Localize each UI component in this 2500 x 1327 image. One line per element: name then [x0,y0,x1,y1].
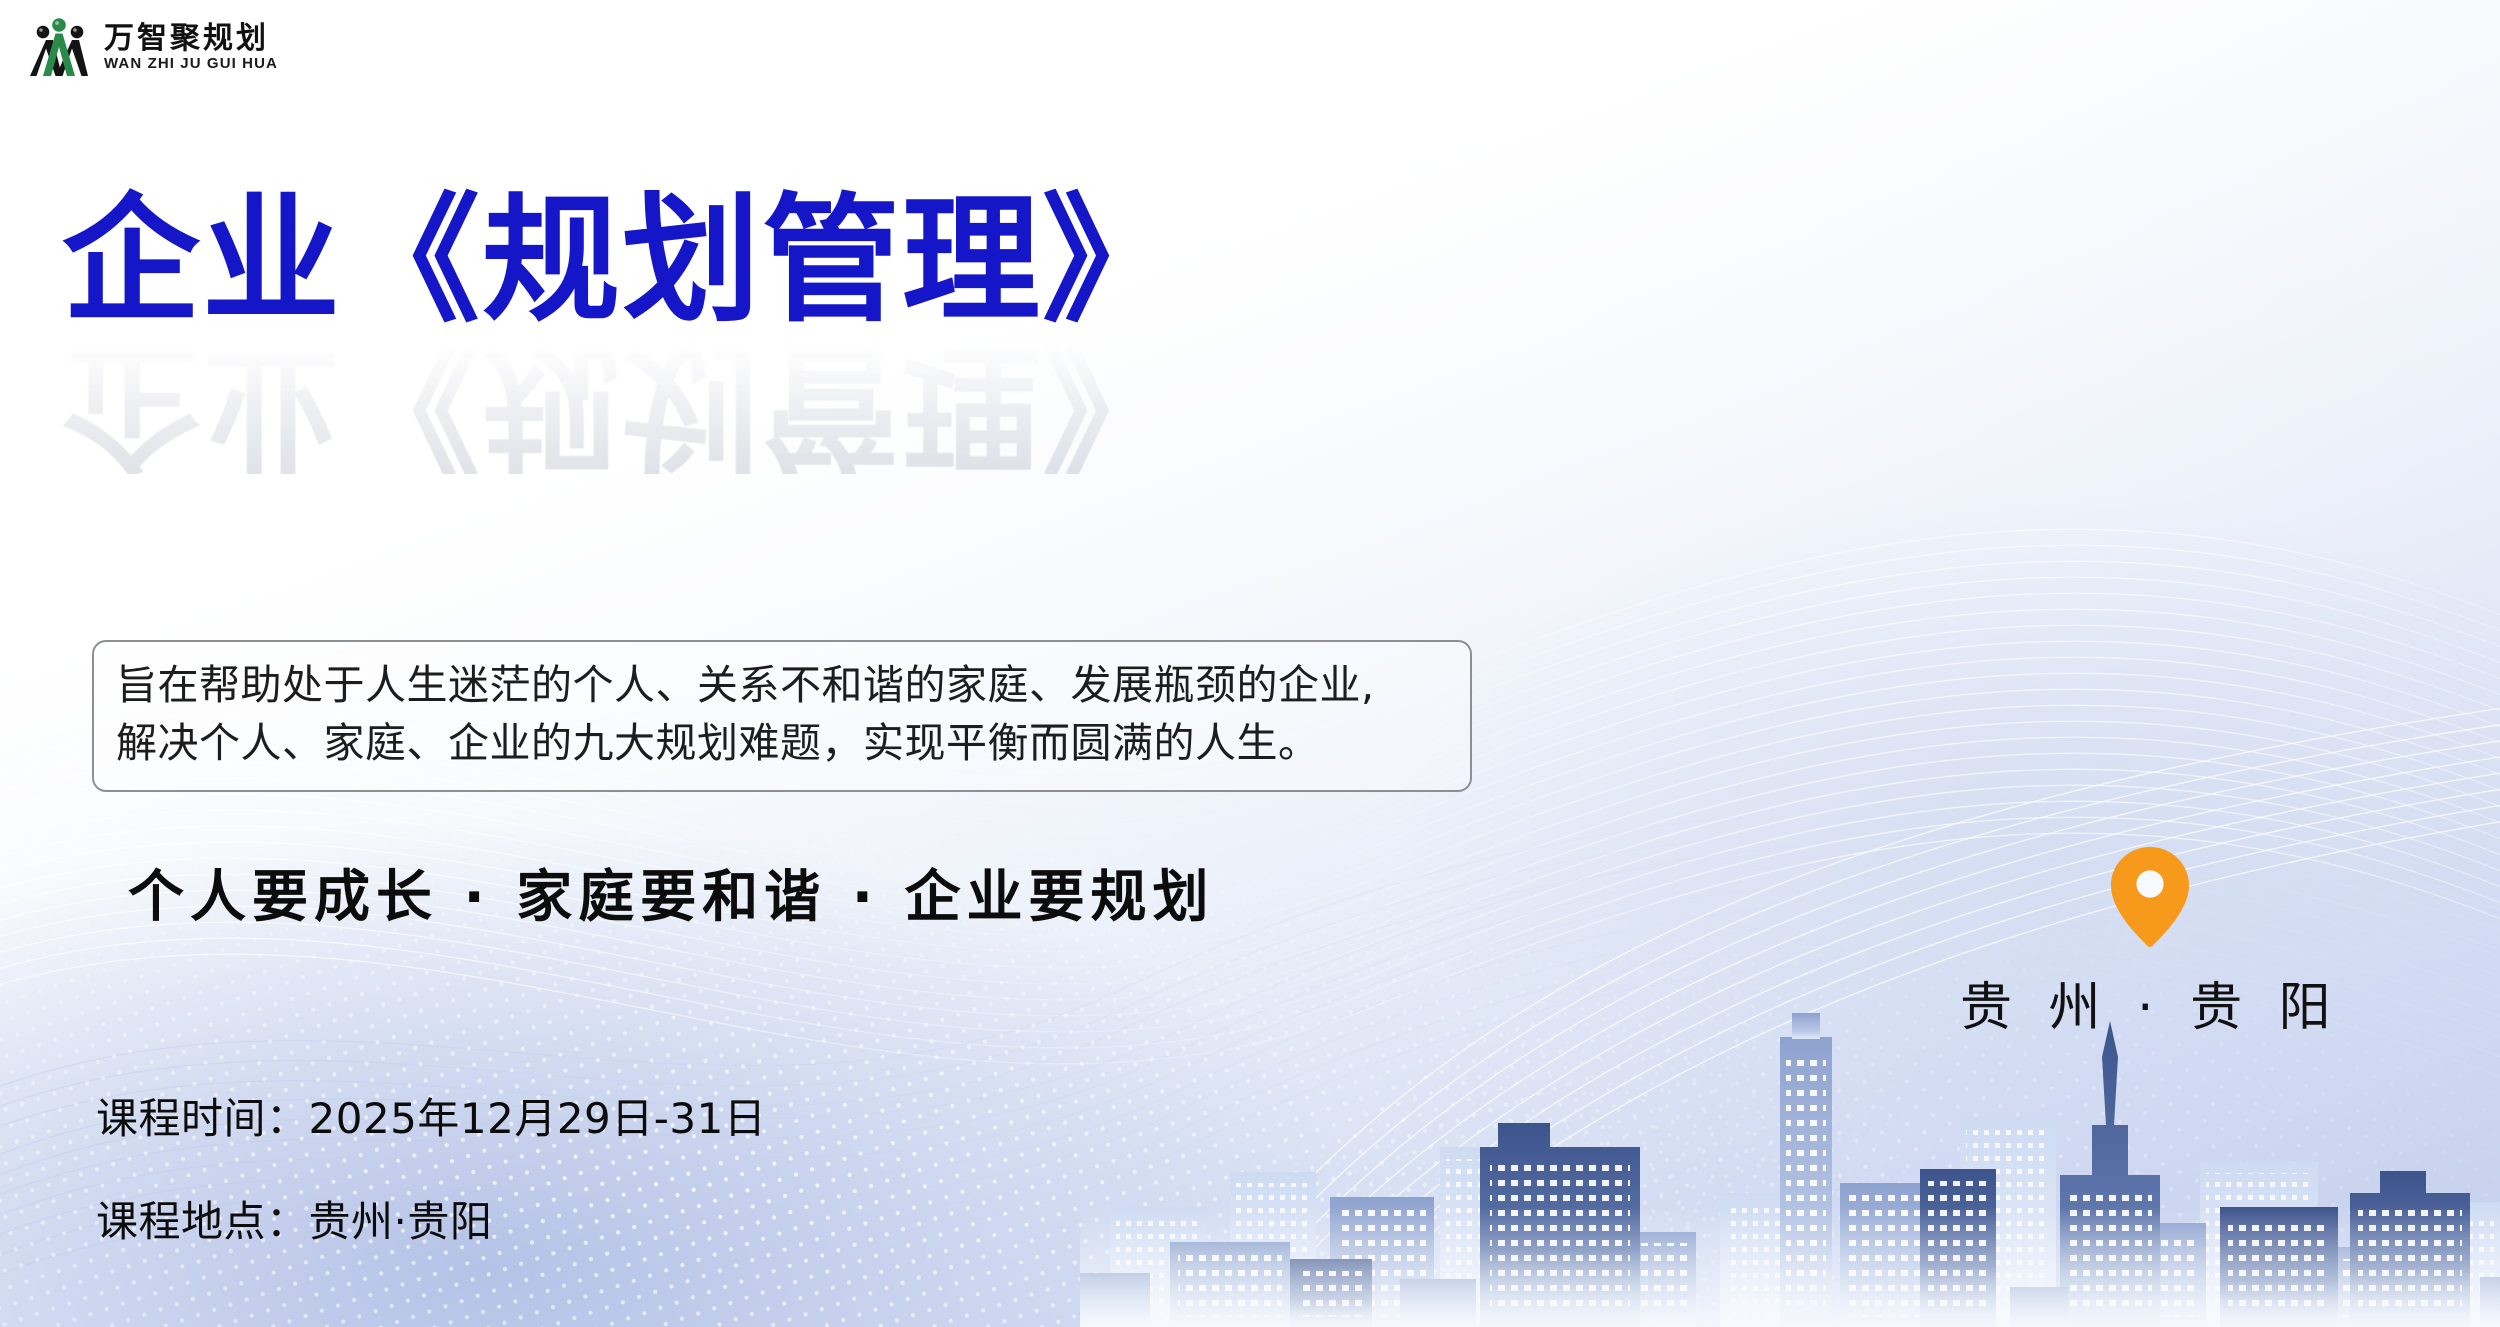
description-line-1: 旨在帮助处于人生迷茫的个人、关系不和谐的家庭、发展瓶颈的企业, [116,656,1448,714]
brand-logo[interactable]: 万智聚规划 WAN ZHI JU GUI HUA [28,14,278,80]
location-badge-text: 贵 州 · 贵 阳 [1960,965,2341,1040]
course-place: 课程地点：贵州·贵阳 [96,1188,766,1249]
poster-canvas: 万智聚规划 WAN ZHI JU GUI HUA 企业《规划管理》 企业《规划管… [0,0,2500,1327]
description-box: 旨在帮助处于人生迷茫的个人、关系不和谐的家庭、发展瓶颈的企业, 解决个人、家庭、… [92,640,1472,792]
hero-title-block: 企业《规划管理》 企业《规划管理》 [62,192,1182,474]
brand-name-cn: 万智聚规划 [104,24,278,54]
course-time: 课程时间：2025年12月29日-31日 [96,1085,766,1146]
brand-wordmark: 万智聚规划 WAN ZHI JU GUI HUA [104,24,278,71]
city-bottom-fade [1080,1207,2500,1327]
course-info-block: 课程时间：2025年12月29日-31日 课程地点：贵州·贵阳 [96,1085,766,1249]
brand-name-en: WAN ZHI JU GUI HUA [104,56,278,71]
map-pin-icon [2109,845,2191,949]
location-badge: 贵 州 · 贵 阳 [1960,845,2341,1040]
page-title: 企业《规划管理》 [62,192,1182,330]
description-line-2: 解决个人、家庭、企业的九大规划难题，实现平衡而圆满的人生。 [116,714,1448,772]
three-people-mark-icon [28,14,90,80]
slogan-text: 个人要成长 · 家庭要和谐 · 企业要规划 [128,852,1215,933]
page-title-reflection: 企业《规划管理》 [62,336,1182,474]
